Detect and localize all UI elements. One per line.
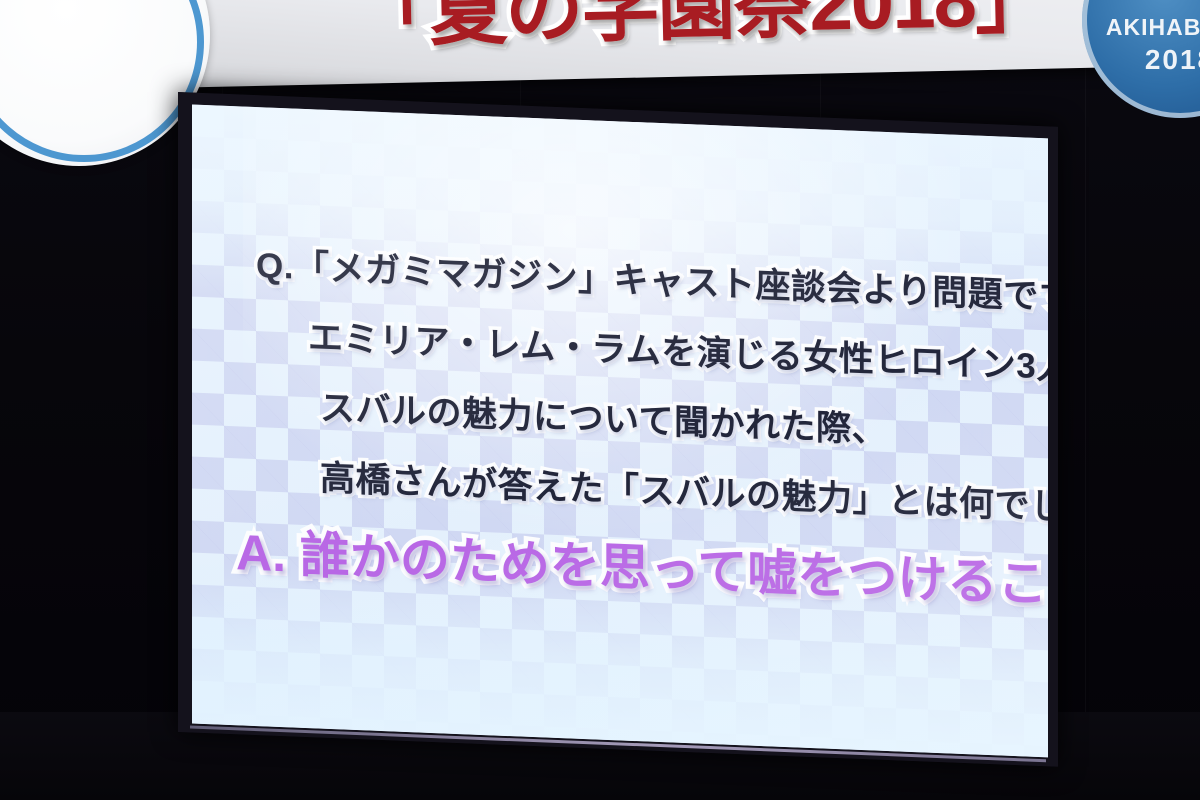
akihabara-badge-year-label: 2018: [1082, 44, 1200, 76]
question-line-2: エミリア・レム・ラムを演じる女性ヒロイン3人で、: [308, 309, 1048, 393]
answer-line: A. 誰かのためを思って嘘をつけること: [236, 512, 1048, 618]
projection-screen-wrapper: Q.「メガミマガジン」キャスト座談会より問題です。 エミリア・レム・ラムを演じる…: [178, 92, 1058, 740]
event-banner-title: 「夏の学園祭2018」: [353, 0, 1052, 52]
presentation-slide: Q.「メガミマガジン」キャスト座談会より問題です。 エミリア・レム・ラムを演じる…: [192, 105, 1048, 758]
question-line-3: スバルの魅力について聞かれた際、: [320, 380, 887, 453]
question-line-1: Q.「メガミマガジン」キャスト座談会より問題です。: [256, 237, 1048, 322]
stage-scene: 「夏の学園祭2018」 2018 AKIHABARA 2018 Q.「メガミマガ…: [0, 0, 1200, 800]
projection-screen: Q.「メガミマガジン」キャスト座談会より問題です。 エミリア・レム・ラムを演じる…: [178, 92, 1058, 767]
akihabara-badge-city-label: AKIHABARA: [1082, 14, 1200, 41]
wall-seam: [1085, 0, 1086, 800]
slide-text-block: Q.「メガミマガジン」キャスト座談会より問題です。 エミリア・レム・ラムを演じる…: [192, 105, 1048, 758]
globe-icon: [1106, 0, 1200, 12]
